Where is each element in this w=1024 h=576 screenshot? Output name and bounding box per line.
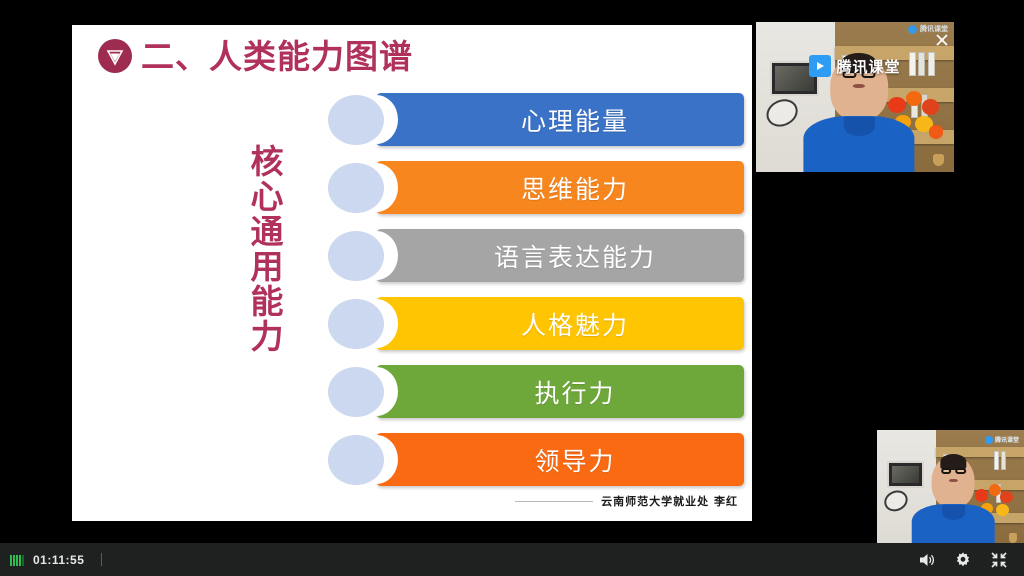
capability-bar-item: 人格魅力 [328, 297, 744, 350]
vertical-label-char: 能 [251, 285, 284, 320]
video-scene [877, 430, 1024, 548]
footer-attribution: 云南师范大学就业处 李红 [601, 493, 738, 509]
vertical-label-char: 力 [251, 320, 284, 355]
video-scene [756, 22, 954, 172]
play-badge-icon [908, 25, 917, 34]
vertical-label-char: 核 [251, 145, 284, 180]
vertical-label-char: 用 [251, 250, 284, 285]
capability-bar-list: 心理能量 思维能力 语言表达能力 [328, 93, 744, 486]
capability-bar-body: 执行力 [376, 365, 744, 418]
presenter-torso [912, 504, 995, 548]
volume-icon[interactable] [918, 551, 936, 569]
elapsed-time: 01:11:55 [33, 553, 84, 567]
watermark-label: 腾讯课堂 [836, 56, 900, 77]
presenter-torso [803, 116, 914, 172]
capability-bar-item: 思维能力 [328, 161, 744, 214]
watermark-small: 腾讯课堂 [985, 435, 1019, 444]
triangle-badge-icon [98, 39, 132, 73]
slide-footer: 云南师范大学就业处 李红 [72, 493, 752, 509]
capability-bullet-circle [328, 95, 384, 145]
player-bar-right [918, 551, 1024, 569]
capability-bullet-circle [328, 163, 384, 213]
capability-bar-item: 执行力 [328, 365, 744, 418]
presenter-video-pip[interactable]: 腾讯课堂 [877, 430, 1024, 548]
capability-bar-label: 心理能量 [491, 102, 629, 138]
capability-bar-label: 语言表达能力 [464, 238, 656, 274]
presenter-collar [843, 117, 874, 136]
player-bar-left: 01:11:55 [0, 553, 102, 567]
watermark-small-label: 腾讯课堂 [995, 435, 1019, 444]
presenter-mouth [853, 84, 866, 89]
play-badge-icon [985, 436, 993, 444]
signal-bars-icon [10, 554, 24, 566]
footer-divider [515, 501, 593, 502]
capability-bar-body: 领导力 [376, 433, 744, 486]
vertical-category-label: 核 心 通 用 能 力 [237, 145, 297, 355]
play-icon [809, 55, 831, 77]
presentation-slide: 二、人类能力图谱 核 心 通 用 能 力 心理能量 思维能力 [72, 25, 752, 521]
capability-bar-item: 领导力 [328, 433, 744, 486]
close-icon[interactable] [934, 32, 950, 48]
toolbar-divider [101, 553, 102, 566]
exit-fullscreen-icon[interactable] [990, 551, 1008, 569]
presenter-collar [942, 505, 965, 520]
capability-bar-body: 思维能力 [376, 161, 744, 214]
player-control-bar: 01:11:55 [0, 543, 1024, 576]
vertical-label-char: 通 [251, 215, 284, 250]
capability-bar-item: 语言表达能力 [328, 229, 744, 282]
presenter-video-main[interactable]: 腾讯课堂 腾讯课堂 [756, 22, 954, 172]
capability-bar-body: 语言表达能力 [376, 229, 744, 282]
capability-bullet-circle [328, 231, 384, 281]
presenter-head [932, 456, 975, 508]
gear-icon[interactable] [954, 551, 972, 569]
capability-bar-label: 领导力 [504, 442, 615, 478]
presenter-figure [915, 456, 991, 548]
capability-bar-label: 思维能力 [491, 170, 629, 206]
presenter-mouth [949, 479, 958, 483]
vertical-label-char: 心 [251, 180, 284, 215]
video-player-root: 二、人类能力图谱 核 心 通 用 能 力 心理能量 思维能力 [0, 0, 1024, 576]
page-title: 二、人类能力图谱 [141, 40, 413, 73]
capability-bar-body: 心理能量 [376, 93, 744, 146]
capability-bullet-circle [328, 435, 384, 485]
capability-bar-label: 人格魅力 [491, 306, 629, 342]
tencent-classroom-watermark: 腾讯课堂 [809, 55, 900, 77]
capability-bar-label: 执行力 [504, 374, 615, 410]
capability-bar-item: 心理能量 [328, 93, 744, 146]
capability-bar-body: 人格魅力 [376, 297, 744, 350]
glasses-icon [941, 468, 966, 474]
slide-title-row: 二、人类能力图谱 [98, 39, 413, 73]
capability-bullet-circle [328, 367, 384, 417]
capability-bullet-circle [328, 299, 384, 349]
